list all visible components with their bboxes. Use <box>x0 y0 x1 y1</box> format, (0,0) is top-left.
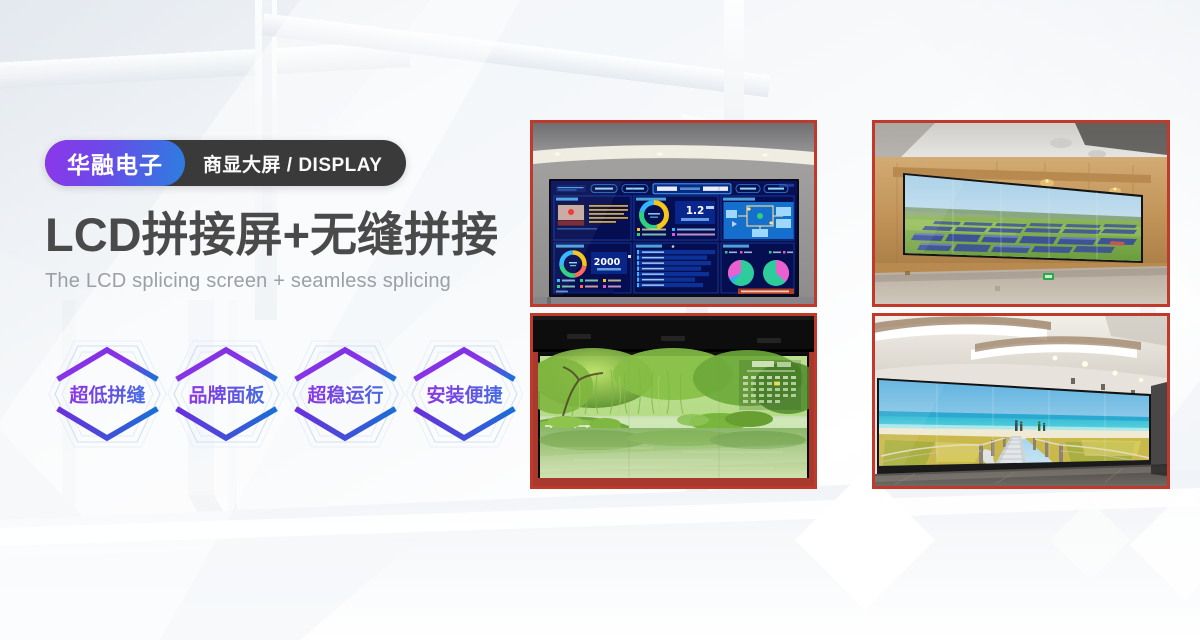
brand-name: 华融电子 <box>45 140 185 186</box>
photo-inner: 1.2 <box>533 123 814 304</box>
control-room-illustration: 1.2 <box>533 123 814 304</box>
feature-badge: 品牌面板 <box>167 338 286 450</box>
feature-badge: 安装便捷 <box>405 338 524 450</box>
solar-farm-illustration <box>875 123 1167 304</box>
promo-banner: 华融电子 商显大屏 / DISPLAY LCD拼接屏+无缝拼接 The LCD … <box>0 0 1200 640</box>
brand-category: 商显大屏 / DISPLAY <box>185 140 406 186</box>
feature-badge-list: 超低拼缝 品牌面板 超稳运行 <box>48 338 524 450</box>
page-subtitle: The LCD splicing screen + seamless splic… <box>45 270 515 293</box>
feature-badge: 超稳运行 <box>286 338 405 450</box>
photo-inner <box>875 123 1167 304</box>
page-title: LCD拼接屏+无缝拼接 <box>45 210 515 259</box>
feature-badge-label: 超稳运行 <box>286 381 405 408</box>
feature-badge-label: 安装便捷 <box>405 381 524 408</box>
headline-block: 华融电子 商显大屏 / DISPLAY LCD拼接屏+无缝拼接 The LCD … <box>45 140 515 293</box>
feature-badge-label: 品牌面板 <box>167 381 286 408</box>
feature-badge: 超低拼缝 <box>48 338 167 450</box>
photo-inner <box>875 316 1167 486</box>
photo-control-room-dashboard[interactable]: 1.2 <box>530 120 817 307</box>
photo-lakeside-video-wall[interactable] <box>530 313 817 489</box>
lakeside-illustration <box>533 316 814 486</box>
beach-boardwalk-illustration <box>875 316 1167 486</box>
feature-badge-label: 超低拼缝 <box>48 381 167 408</box>
brand-pill: 华融电子 商显大屏 / DISPLAY <box>45 140 406 186</box>
photo-beach-boardwalk-video-wall[interactable] <box>872 313 1170 489</box>
svg-text:2000: 2000 <box>594 257 621 268</box>
calendar-overlay <box>739 360 801 410</box>
photo-inner <box>533 316 814 486</box>
svg-text:1.2: 1.2 <box>686 205 705 217</box>
photo-solar-farm-video-wall[interactable] <box>872 120 1170 307</box>
